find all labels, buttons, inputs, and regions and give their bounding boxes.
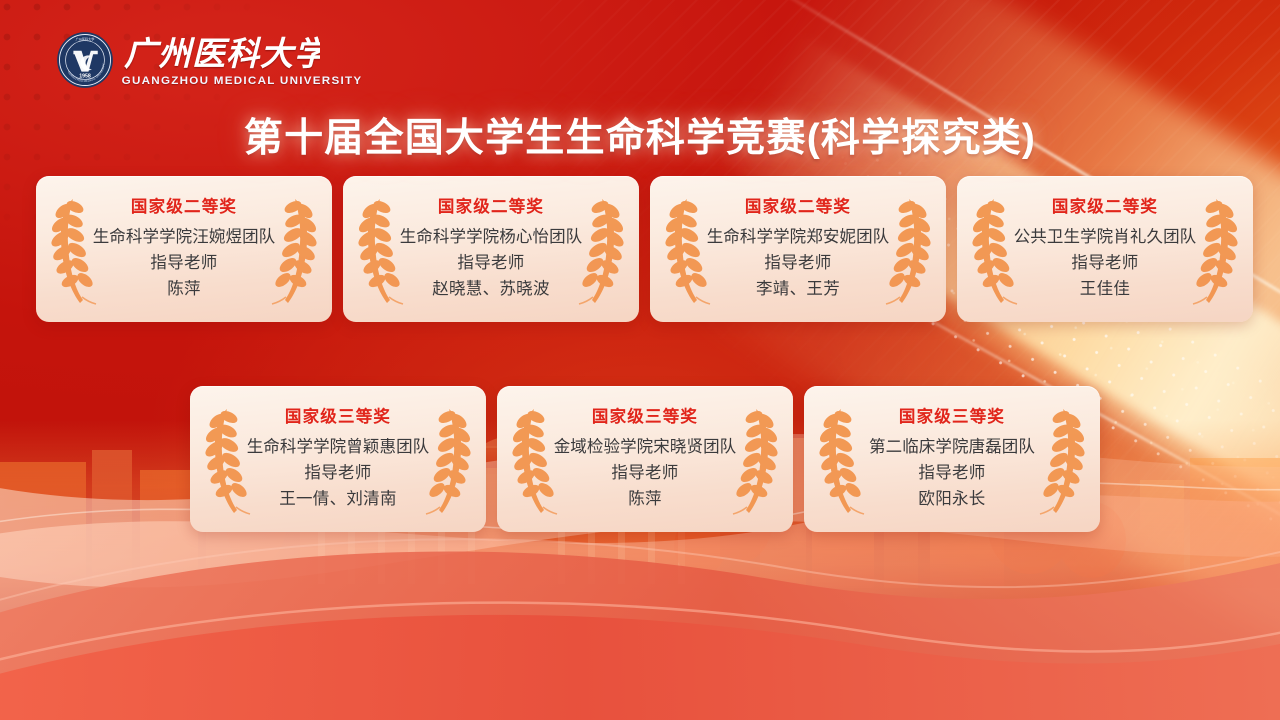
advisor-label: 指导老师: [90, 250, 278, 276]
team-name: 生命科学学院郑安妮团队: [704, 224, 892, 250]
award-card[interactable]: 国家级二等奖 生命科学学院汪婉煜团队 指导老师 陈萍: [36, 176, 332, 322]
award-level: 国家级三等奖: [244, 406, 432, 428]
university-logo[interactable]: 1958 广州医科大学 GUANGZHOU MEDICAL UNIVERSITY: [56, 31, 360, 89]
award-card[interactable]: 国家级二等奖 生命科学学院杨心怡团队 指导老师 赵晓慧、苏晓波: [343, 176, 639, 322]
university-crest-icon: 1958 广州医科大学 GUANGZHOU MEDICAL UNIVERSITY: [56, 31, 114, 89]
team-name: 第二临床学院唐磊团队: [858, 434, 1046, 460]
team-name: 生命科学学院汪婉煜团队: [90, 224, 278, 250]
award-level: 国家级二等奖: [90, 196, 278, 218]
team-name: 金域检验学院宋晓贤团队: [551, 434, 739, 460]
third-prize-row: 国家级三等奖 生命科学学院曾颖惠团队 指导老师 王一倩、刘清南: [190, 386, 1100, 532]
advisor-names: 欧阳永长: [858, 486, 1046, 512]
university-name-en: GUANGZHOU MEDICAL UNIVERSITY: [122, 75, 363, 87]
award-level: 国家级三等奖: [858, 406, 1046, 428]
page-title: 第十届全国大学生生命科学竞赛(科学探究类): [0, 107, 1280, 163]
second-prize-row: 国家级二等奖 生命科学学院汪婉煜团队 指导老师 陈萍: [36, 176, 1253, 322]
advisor-names: 王佳佳: [1011, 276, 1199, 302]
award-card[interactable]: 国家级三等奖 金域检验学院宋晓贤团队 指导老师 陈萍: [497, 386, 793, 532]
svg-text:广州医科大学: 广州医科大学: [76, 36, 95, 41]
team-name: 生命科学学院曾颖惠团队: [244, 434, 432, 460]
award-card[interactable]: 国家级二等奖 生命科学学院郑安妮团队 指导老师 李靖、王芳: [650, 176, 946, 322]
award-level: 国家级二等奖: [704, 196, 892, 218]
advisor-label: 指导老师: [1011, 250, 1199, 276]
advisor-label: 指导老师: [397, 250, 585, 276]
award-level: 国家级三等奖: [551, 406, 739, 428]
advisor-label: 指导老师: [244, 460, 432, 486]
poster-stage: 1958 广州医科大学 GUANGZHOU MEDICAL UNIVERSITY: [0, 0, 1280, 720]
advisor-label: 指导老师: [704, 250, 892, 276]
award-level: 国家级二等奖: [1011, 196, 1199, 218]
advisor-label: 指导老师: [858, 460, 1046, 486]
advisor-names: 王一倩、刘清南: [244, 486, 432, 512]
advisor-names: 陈萍: [90, 276, 278, 302]
advisor-names: 陈萍: [551, 486, 739, 512]
award-level: 国家级二等奖: [397, 196, 585, 218]
advisor-names: 李靖、王芳: [704, 276, 892, 302]
svg-text:1958: 1958: [79, 73, 91, 79]
university-name-cn-calligraphy: 广州医科大学: [124, 34, 320, 74]
award-card[interactable]: 国家级三等奖 第二临床学院唐磊团队 指导老师 欧阳永长: [804, 386, 1100, 532]
advisor-names: 赵晓慧、苏晓波: [397, 276, 585, 302]
team-name: 生命科学学院杨心怡团队: [397, 224, 585, 250]
team-name: 公共卫生学院肖礼久团队: [1011, 224, 1199, 250]
advisor-label: 指导老师: [551, 460, 739, 486]
award-card[interactable]: 国家级三等奖 生命科学学院曾颖惠团队 指导老师 王一倩、刘清南: [190, 386, 486, 532]
svg-text:广州医科大学: 广州医科大学: [124, 34, 320, 73]
award-card[interactable]: 国家级二等奖 公共卫生学院肖礼久团队 指导老师 王佳佳: [957, 176, 1253, 322]
